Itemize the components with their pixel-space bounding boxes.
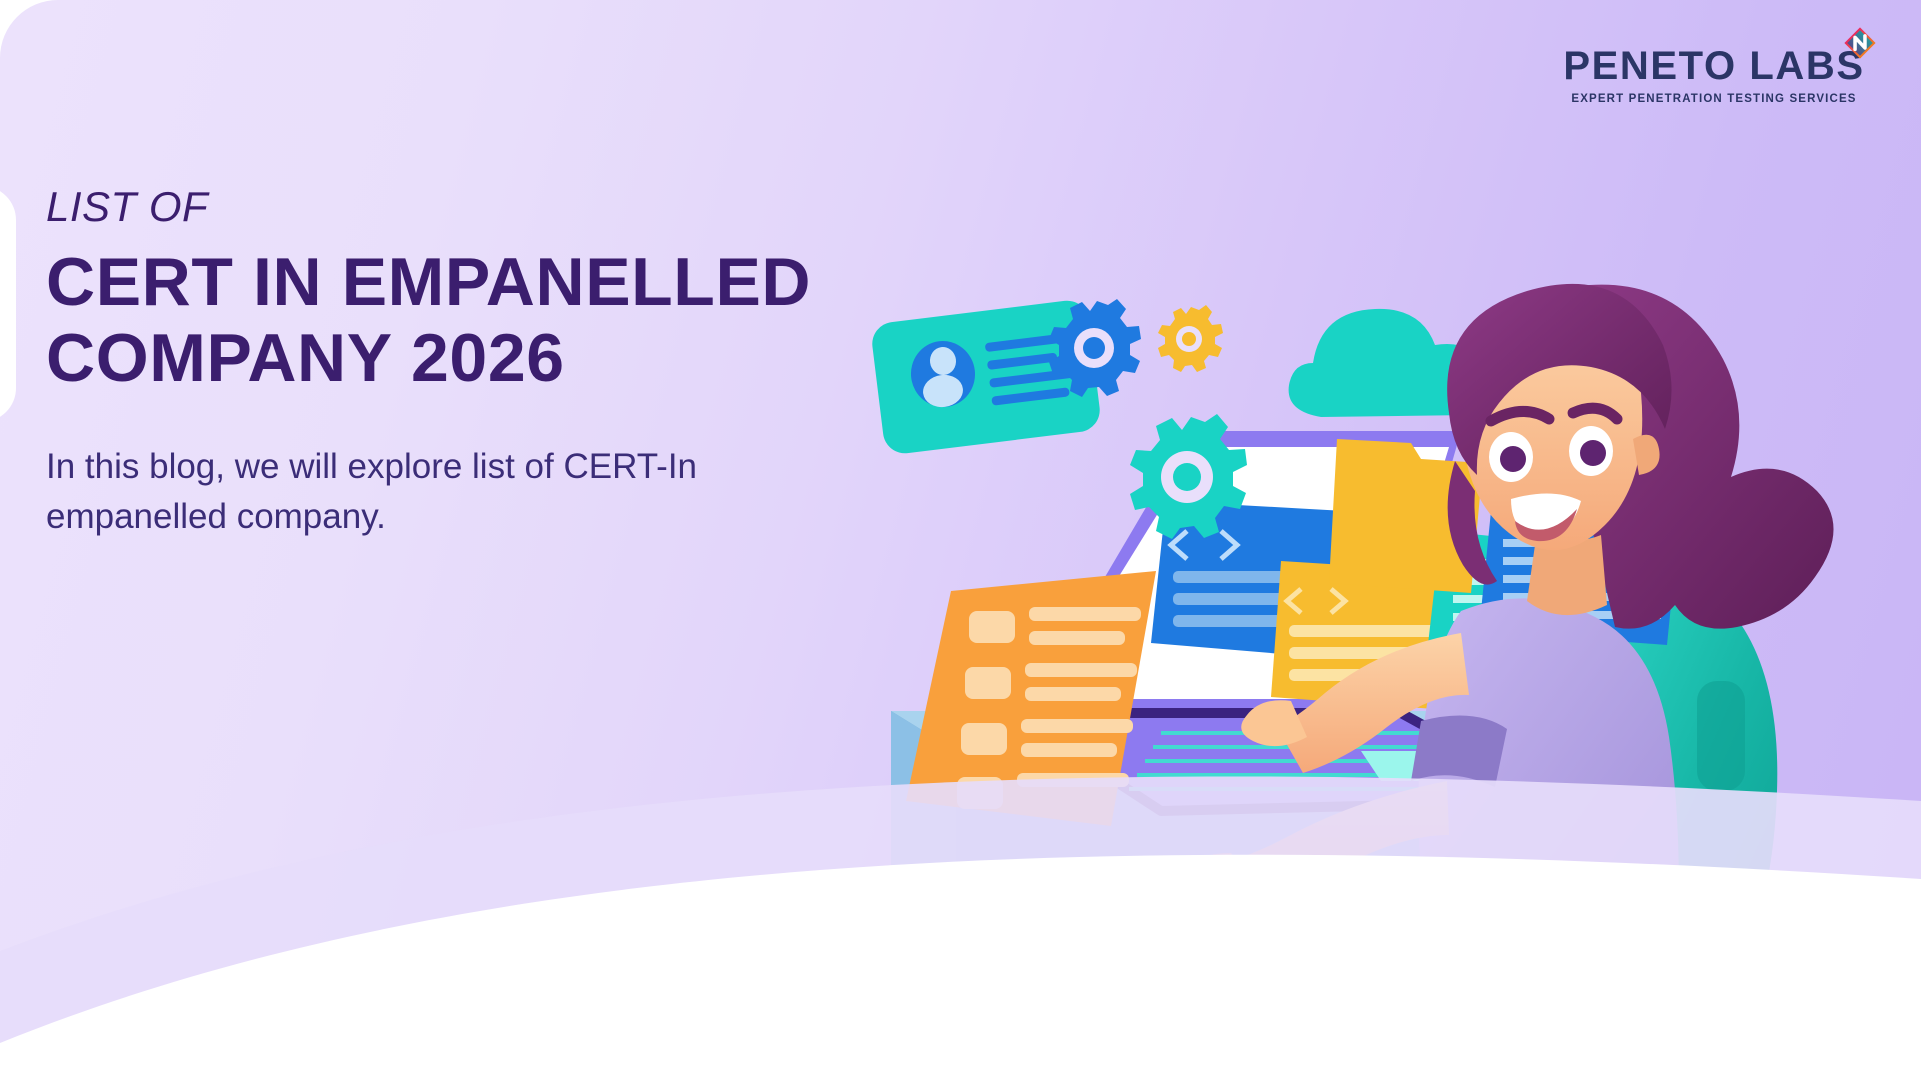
hero-subtitle: In this blog, we will explore list of CE… — [46, 442, 886, 541]
brand-logo[interactable]: PENETO LABS EXPERT PENETRATION TESTING S… — [1549, 46, 1879, 105]
logo-tagline: EXPERT PENETRATION TESTING SERVICES — [1549, 93, 1879, 105]
eyebrow-text: LIST OF — [46, 186, 1046, 228]
blog-hero-banner: LIST OF CERT IN EMPANELLED COMPANY 2026 … — [0, 0, 1921, 1081]
hero-text-block: LIST OF CERT IN EMPANELLED COMPANY 2026 … — [46, 186, 1046, 542]
logo-wordmark: PENETO LABS — [1549, 46, 1879, 86]
background-gradient: LIST OF CERT IN EMPANELLED COMPANY 2026 … — [0, 0, 1921, 1081]
page-title: CERT IN EMPANELLED COMPANY 2026 — [46, 244, 1046, 396]
peneto-diamond-arrow-icon — [1843, 26, 1877, 60]
orange-gear — [1158, 305, 1223, 372]
headline-line-2: COMPANY 2026 — [46, 320, 565, 396]
left-edge-notch — [0, 186, 16, 422]
headline-line-1: CERT IN EMPANELLED — [46, 244, 811, 320]
